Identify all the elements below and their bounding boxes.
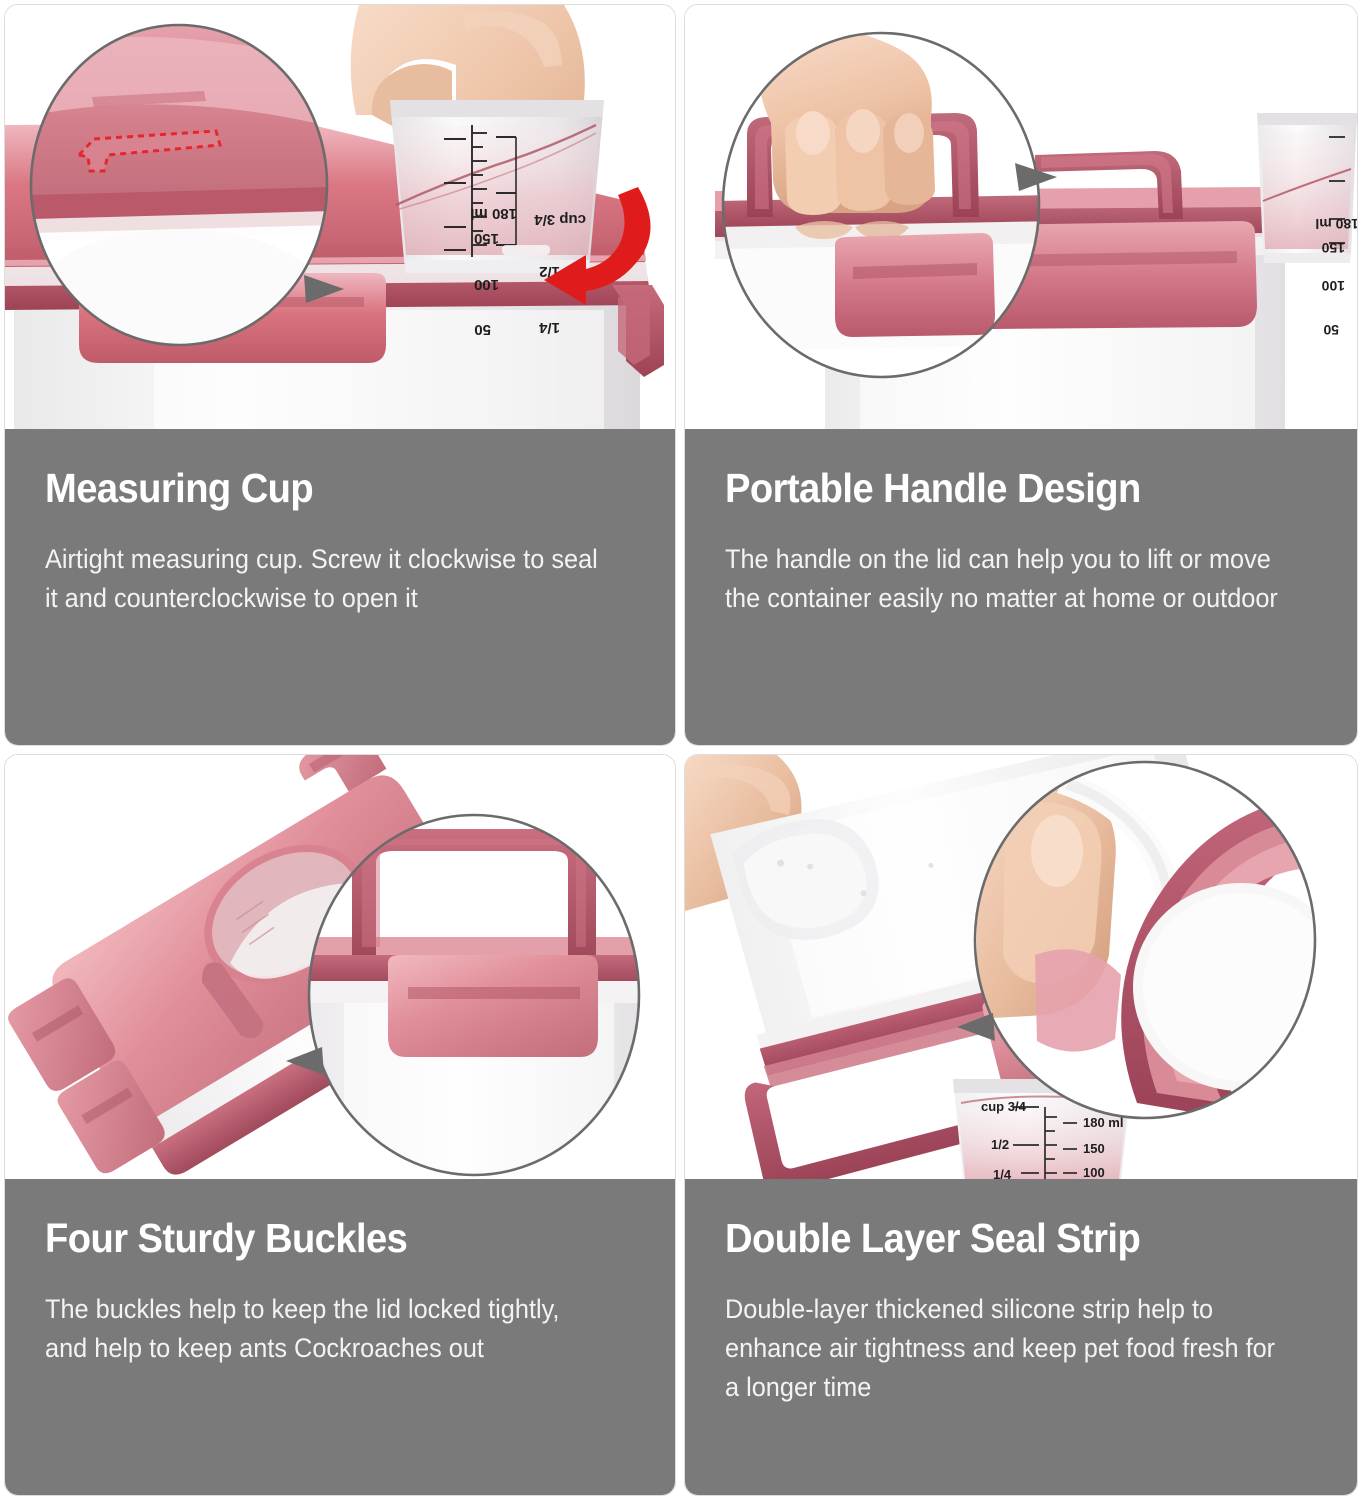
cup-mark-150: 150 <box>474 230 499 247</box>
cup-mark-half: 1/2 <box>991 1137 1009 1152</box>
cup-mark-100: 100 <box>474 276 499 293</box>
card-body: Double-layer thickened silicone strip he… <box>725 1290 1290 1408</box>
cup-mark-quarter: 1/4 <box>538 319 560 336</box>
card-body: The handle on the lid can help you to li… <box>725 540 1290 618</box>
product-photo-portable-handle: 50 100 150 180 ml <box>685 5 1357 429</box>
caption-portable-handle: Portable Handle Design The handle on the… <box>685 429 1357 745</box>
portable-handle-illustration: 50 100 150 180 ml <box>685 5 1357 429</box>
card-title: Double Layer Seal Strip <box>725 1217 1276 1260</box>
caption-double-layer-seal-strip: Double Layer Seal Strip Double-layer thi… <box>685 1179 1357 1495</box>
card-title: Portable Handle Design <box>725 467 1276 510</box>
cup-mark-50: 50 <box>1323 322 1339 338</box>
feature-card-double-layer-seal-strip: cup 3/4 1/2 1/4 180 ml 150 100 <box>684 754 1358 1496</box>
seal-strip-illustration: cup 3/4 1/2 1/4 180 ml 150 100 <box>685 755 1357 1179</box>
feature-card-measuring-cup: 50 100 150 180 ml 1/4 1/2 cup 3/4 <box>4 4 676 746</box>
card-title: Measuring Cup <box>45 467 594 510</box>
cup-mark-150: 150 <box>1321 240 1345 256</box>
cup-mark-100: 100 <box>1321 278 1345 294</box>
caption-measuring-cup: Measuring Cup Airtight measuring cup. Sc… <box>5 429 675 745</box>
feature-card-four-sturdy-buckles: Four Sturdy Buckles The buckles help to … <box>4 754 676 1496</box>
buckles-illustration <box>5 755 675 1179</box>
product-photo-buckles <box>5 755 675 1179</box>
card-title: Four Sturdy Buckles <box>45 1217 594 1260</box>
card-body: Airtight measuring cup. Screw it clockwi… <box>45 540 608 618</box>
caption-four-sturdy-buckles: Four Sturdy Buckles The buckles help to … <box>5 1179 675 1495</box>
cup-mark-180: 180 ml <box>1083 1115 1123 1130</box>
cup-mark-50: 50 <box>474 321 491 338</box>
cup-mark-threequarter: cup 3/4 <box>534 211 586 228</box>
cup-mark-150: 150 <box>1083 1141 1105 1156</box>
product-photo-seal-strip: cup 3/4 1/2 1/4 180 ml 150 100 <box>685 755 1357 1179</box>
measuring-cup-illustration: 50 100 150 180 ml 1/4 1/2 cup 3/4 <box>5 5 675 429</box>
cup-mark-quarter: 1/4 <box>993 1167 1012 1179</box>
card-body: The buckles help to keep the lid locked … <box>45 1290 608 1368</box>
cup-mark-threequarter: cup 3/4 <box>981 1099 1027 1114</box>
cup-mark-180: 180 ml <box>1315 216 1357 232</box>
feature-card-portable-handle: 50 100 150 180 ml <box>684 4 1358 746</box>
cup-mark-100: 100 <box>1083 1165 1105 1179</box>
product-photo-measuring-cup: 50 100 150 180 ml 1/4 1/2 cup 3/4 <box>5 5 675 429</box>
feature-grid: 50 100 150 180 ml 1/4 1/2 cup 3/4 <box>0 0 1362 1500</box>
cup-mark-180: 180 ml <box>470 205 517 222</box>
